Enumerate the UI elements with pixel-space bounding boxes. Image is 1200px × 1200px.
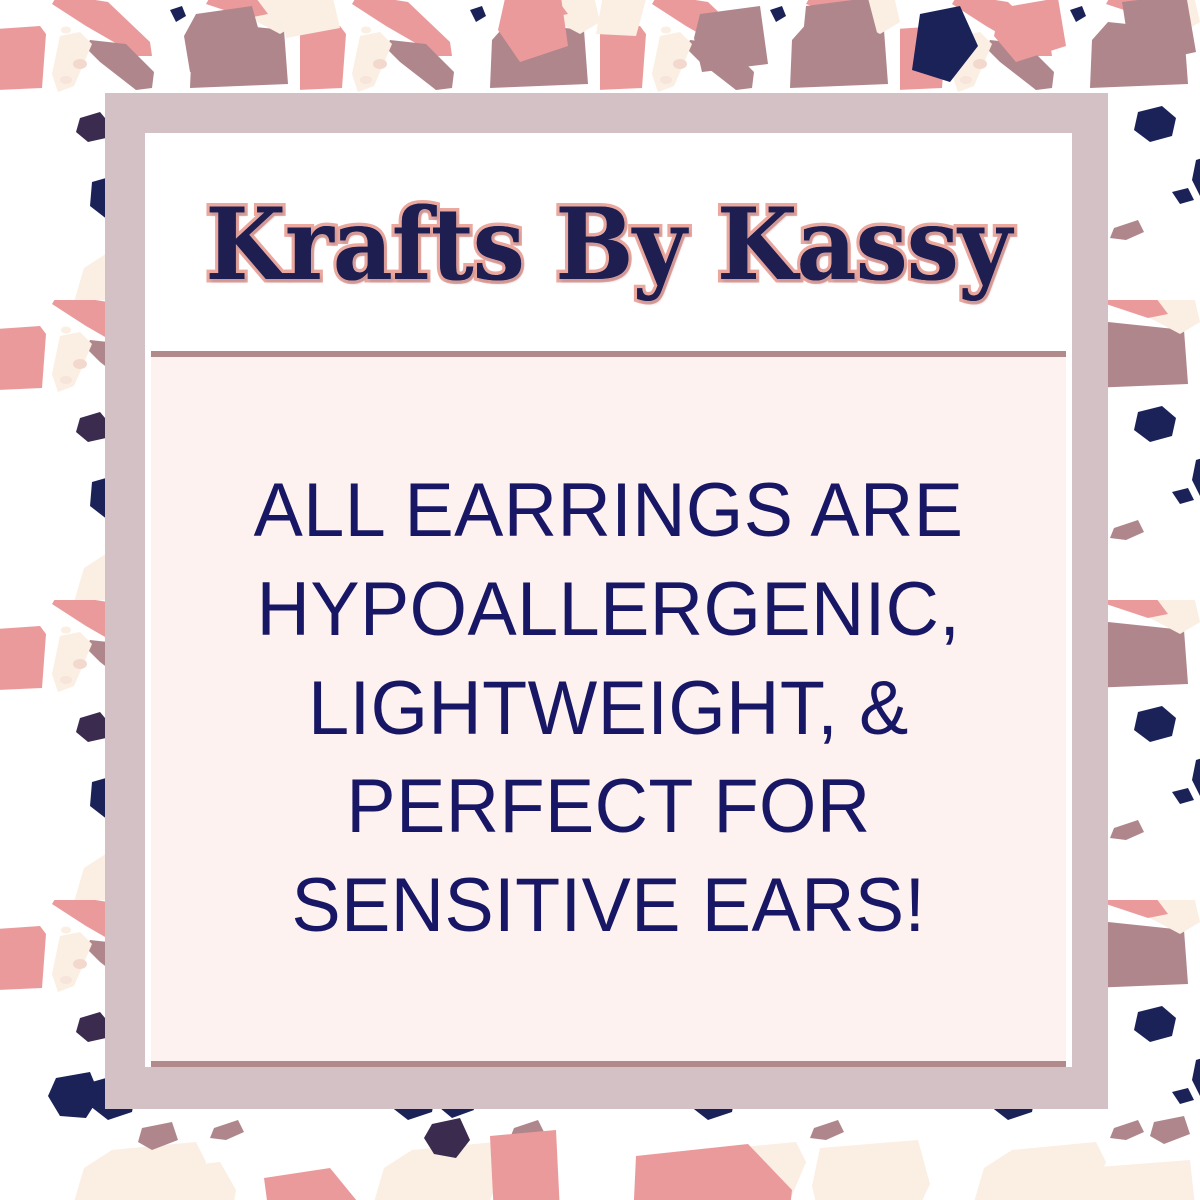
message-panel: ALL EARRINGS ARE HYPOALLERGENIC, LIGHTWE… [151,357,1066,1061]
logo-area: Krafts By Kassy Krafts By Kassy [145,133,1072,351]
message-text: ALL EARRINGS ARE HYPOALLERGENIC, LIGHTWE… [175,462,1042,956]
poster-card: Krafts By Kassy Krafts By Kassy ALL EARR… [145,133,1072,1067]
message-line: LIGHTWEIGHT, & [188,660,1029,759]
bottom-divider-rule [151,1061,1066,1067]
brand-logo-text-outline: Krafts By Kassy [206,195,1012,295]
message-line: SENSITIVE EARS! [188,857,1029,956]
message-line: PERFECT FOR [188,758,1029,857]
message-line: ALL EARRINGS ARE [188,462,1029,561]
promo-graphic: Krafts By Kassy Krafts By Kassy ALL EARR… [0,0,1200,1200]
poster-frame: Krafts By Kassy Krafts By Kassy ALL EARR… [105,93,1108,1109]
brand-logo: Krafts By Kassy Krafts By Kassy [175,195,1041,295]
message-line: HYPOALLERGENIC, [188,561,1029,660]
